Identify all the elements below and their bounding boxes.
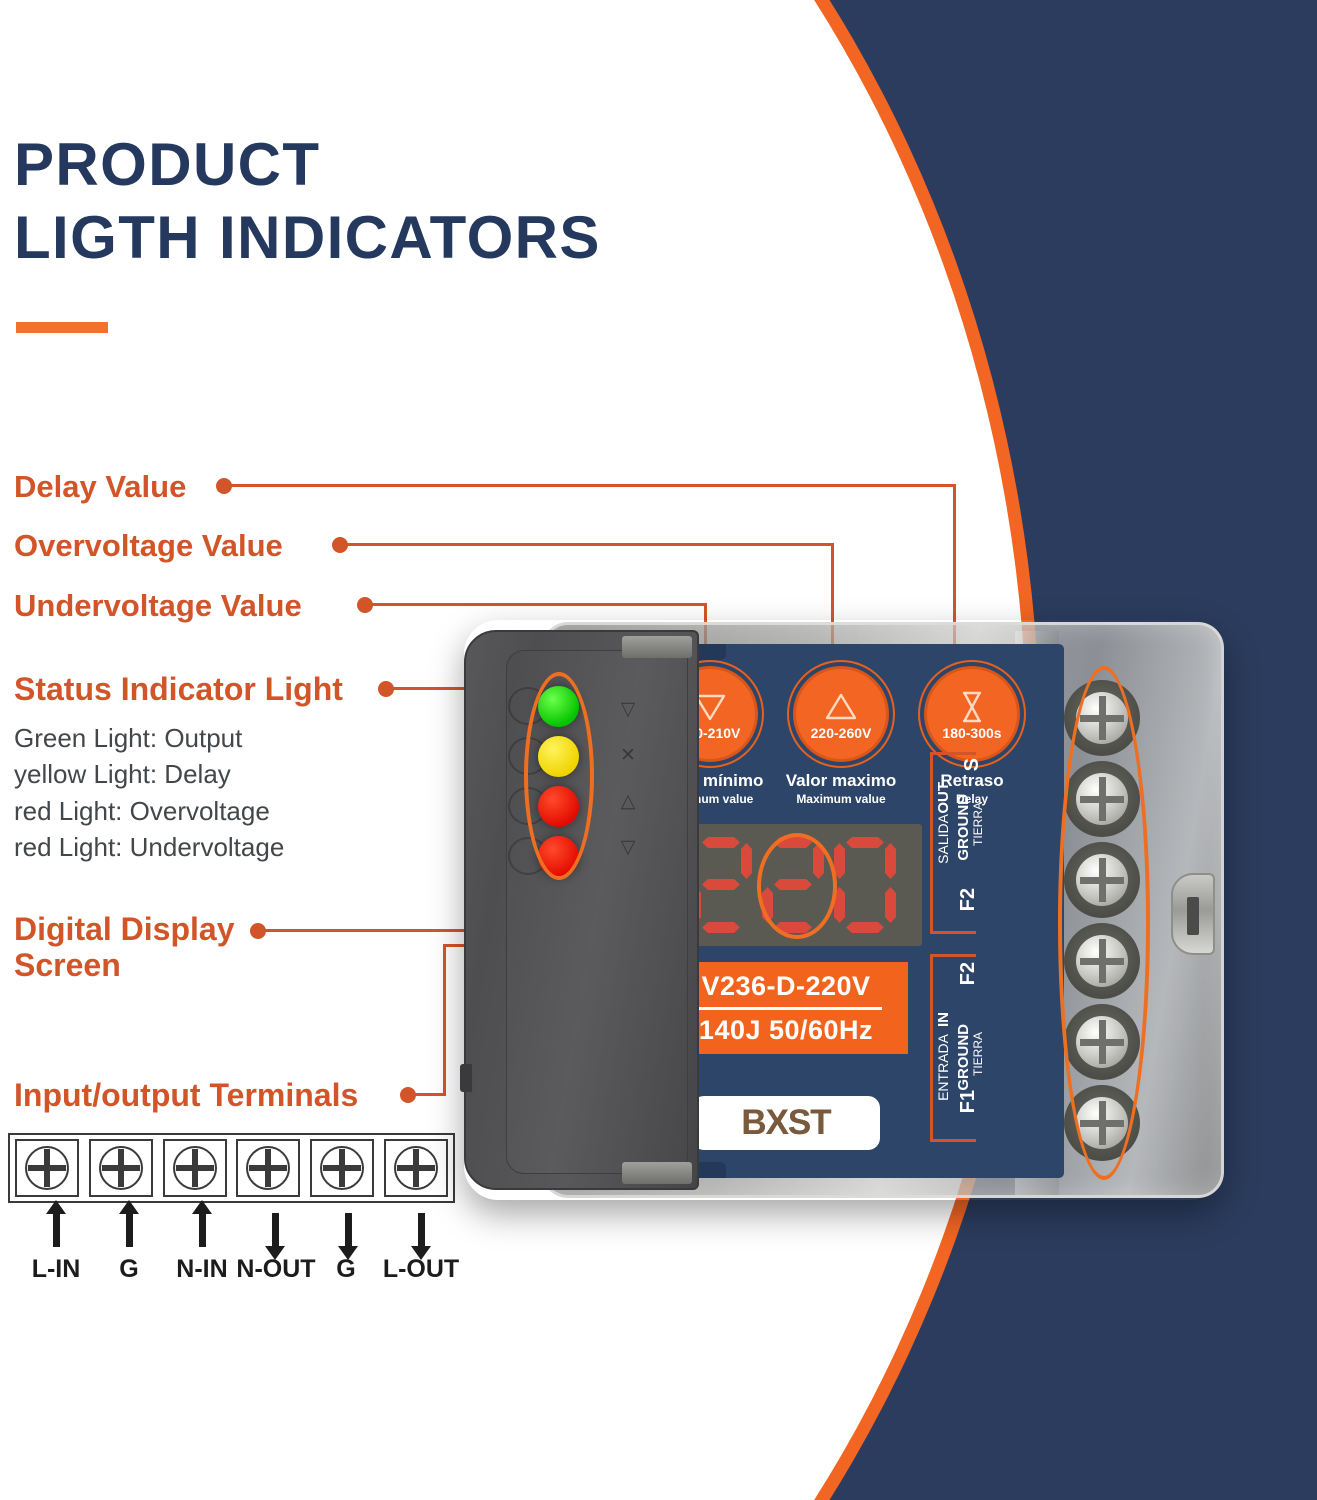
product-device: 170-210V Valor mínimo Minimum value 220-… — [464, 620, 1224, 1200]
arrow-up-icon — [126, 1213, 133, 1247]
callout-status-indicator-light: Status Indicator Light — [14, 672, 343, 708]
terminal-cell-3[interactable] — [236, 1139, 300, 1197]
leader-line-terminals-v — [443, 944, 446, 1096]
badge-range-maximum: 220-260V — [811, 725, 872, 741]
status-legend-item-red-over: red Light: Overvoltage — [14, 793, 284, 829]
terminal-cell-5[interactable] — [384, 1139, 448, 1197]
terminal-cell-2[interactable] — [163, 1139, 227, 1197]
terminal-labels: L-IN G N-IN N-OUT G L-OUT — [8, 1255, 478, 1291]
badge-range-delay: 180-300s — [942, 725, 1001, 741]
highlight-oval-display-digit — [757, 833, 837, 939]
hinge-top — [622, 636, 692, 658]
terminal-pin-in-f1: F1 — [958, 1090, 978, 1113]
terminal-group-in-title-es: ENTRADA — [936, 1034, 950, 1101]
terminal-group-out-title-es: SALIDA — [936, 814, 950, 864]
screw-terminal-icon — [25, 1146, 69, 1190]
brand-logo-text: BXST — [741, 1103, 830, 1143]
terminal-cell-1[interactable] — [89, 1139, 153, 1197]
terminal-label-g-out: G — [336, 1255, 355, 1284]
spec-model: V236-D-220V — [701, 971, 870, 1002]
screw-terminal-icon — [246, 1146, 290, 1190]
device-faceplate: 170-210V Valor mínimo Minimum value 220-… — [644, 644, 1064, 1178]
cover-latch[interactable] — [1171, 873, 1215, 955]
hinge-bottom — [622, 1162, 692, 1184]
spec-divider — [690, 1007, 882, 1010]
callout-overvoltage-value: Overvoltage Value — [14, 529, 283, 564]
terminal-label-l-in: L-IN — [32, 1255, 81, 1284]
page-title-line1: PRODUCT — [14, 131, 320, 198]
terminal-pin-out-f2: F2 — [958, 888, 978, 911]
terminal-strip-diagram: L-IN G N-IN N-OUT G L-OUT — [8, 1133, 478, 1291]
badge-circle-maximum: 220-260V — [793, 666, 889, 762]
bracket-out-vertical — [930, 752, 933, 934]
bracket-out-bottom — [930, 931, 976, 934]
triangle-down-icon: ▽ — [608, 686, 648, 732]
highlight-oval-leds — [524, 672, 594, 880]
housing-side-nub — [460, 1064, 472, 1092]
hourglass-icon — [959, 687, 985, 727]
leader-line-undervoltage-h — [367, 603, 706, 606]
highlight-oval-screw-terminals — [1058, 666, 1150, 1180]
status-legend-item-yellow: yellow Light: Delay — [14, 756, 284, 792]
page-title: PRODUCT LIGTH INDICATORS — [14, 128, 601, 274]
triangle-down-icon: ▽ — [608, 824, 648, 870]
terminal-pin-out-s: S — [962, 758, 982, 771]
screw-terminal-icon — [99, 1146, 143, 1190]
terminal-direction-arrows — [8, 1207, 455, 1253]
callout-input-output-terminals: Input/output Terminals — [14, 1078, 358, 1114]
arrow-down-icon — [345, 1213, 352, 1247]
page-title-line2: LIGTH INDICATORS — [14, 201, 601, 274]
spec-rating: 140J 50/60Hz — [699, 1015, 873, 1046]
badge-title-es-maximum: Valor maximo — [781, 771, 901, 791]
digital-display-screen — [664, 824, 922, 946]
callout-digital-display-line2: Screen — [14, 948, 235, 984]
callout-digital-display-screen: Digital Display Screen — [14, 912, 235, 984]
leader-line-terminals-h1 — [410, 1093, 446, 1096]
triangle-up-icon — [824, 687, 858, 727]
terminal-group-out-ground-es: TIERRA — [972, 802, 984, 846]
product-spec-label: V236-D-220V 140J 50/60Hz — [664, 962, 908, 1054]
infographic-canvas: PRODUCT LIGTH INDICATORS Delay Value Ove… — [0, 0, 1317, 1500]
terminal-cell-4[interactable] — [310, 1139, 374, 1197]
leader-line-delay-h — [226, 484, 955, 487]
badge-circle-delay: 180-300s — [924, 666, 1020, 762]
screw-terminal-icon — [320, 1146, 364, 1190]
terminal-label-n-in: N-IN — [176, 1255, 227, 1284]
badge-maximum-value[interactable]: 220-260V Valor maximo Maximum value — [781, 666, 901, 806]
terminal-label-n-out: N-OUT — [236, 1255, 315, 1284]
terminal-group-out-title-en: OUT — [936, 782, 951, 814]
cross-icon: ✕ — [608, 732, 648, 778]
terminal-label-l-out: L-OUT — [383, 1255, 459, 1284]
device-housing-left: ▽ ✕ △ ▽ — [464, 630, 699, 1190]
terminal-label-g-in: G — [119, 1255, 138, 1284]
triangle-up-icon: △ — [608, 778, 648, 824]
callout-digital-display-line1: Digital Display — [14, 911, 235, 947]
bracket-in-top — [930, 954, 976, 957]
display-digit-2 — [834, 837, 896, 933]
terminal-pin-in-f2: F2 — [958, 962, 978, 985]
badge-title-en-maximum: Maximum value — [781, 792, 901, 806]
screw-terminal-icon — [173, 1146, 217, 1190]
display-digit-0 — [690, 837, 752, 933]
terminal-strip-body — [8, 1133, 455, 1203]
bracket-out-top — [930, 752, 976, 755]
bracket-in-bottom — [930, 1139, 976, 1142]
arrow-down-icon — [418, 1213, 425, 1247]
status-legend: Green Light: Output yellow Light: Delay … — [14, 720, 284, 866]
arrow-up-icon — [53, 1213, 60, 1247]
terminal-group-in-title-en: IN — [936, 1012, 951, 1027]
callout-delay-value: Delay Value — [14, 470, 186, 505]
terminal-cell-0[interactable] — [15, 1139, 79, 1197]
bracket-in-vertical — [930, 954, 933, 1142]
arrow-down-icon — [272, 1213, 279, 1247]
leader-line-overvoltage-h — [342, 543, 833, 546]
screw-terminal-icon — [394, 1146, 438, 1190]
status-legend-item-red-under: red Light: Undervoltage — [14, 829, 284, 865]
indicator-badge-row: 170-210V Valor mínimo Minimum value 220-… — [650, 666, 1032, 806]
brand-plate: BXST — [692, 1096, 880, 1150]
callout-undervoltage-value: Undervoltage Value — [14, 589, 302, 624]
terminal-group-out-ground-en: GROUND — [956, 794, 971, 861]
arrow-up-icon — [199, 1213, 206, 1247]
led-glyph-column: ▽ ✕ △ ▽ — [608, 686, 648, 870]
title-underline-rule — [16, 322, 108, 333]
terminal-group-in-ground-en: GROUND — [956, 1024, 971, 1091]
terminal-group-in-ground-es: TIERRA — [972, 1032, 984, 1076]
status-legend-item-green: Green Light: Output — [14, 720, 284, 756]
